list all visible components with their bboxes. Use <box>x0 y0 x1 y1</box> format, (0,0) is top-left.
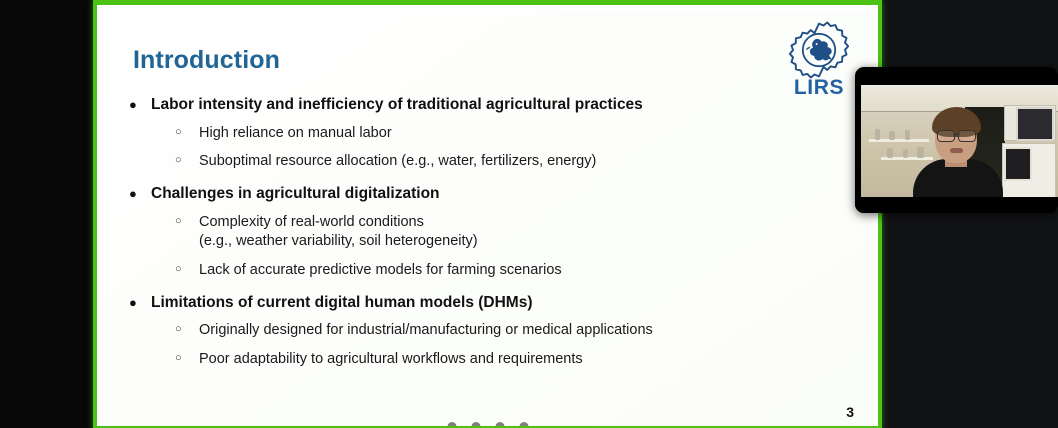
slide-page-number: 3 <box>846 404 854 420</box>
slide-progress-dots <box>447 422 528 426</box>
sub-bullet-marker-icon: ○ <box>175 152 199 170</box>
shelf-trinket <box>903 149 908 158</box>
sub-bullet-item: ○ Lack of accurate predictive models for… <box>175 261 864 281</box>
bullet-item: ● Limitations of current digital human m… <box>129 294 864 313</box>
bullet-item: ● Labor intensity and inefficiency of tr… <box>129 96 864 115</box>
sub-bullet-text: Suboptimal resource allocation (e.g., wa… <box>199 152 596 172</box>
lirs-logo: LIRS <box>776 20 862 100</box>
bullet-text: Challenges in agricultural digitalizatio… <box>151 185 440 204</box>
gear-dragon-icon <box>789 20 849 80</box>
shelf-trinket <box>887 148 893 158</box>
page-title: Introduction <box>133 46 280 75</box>
bullet-item: ● Challenges in agricultural digitalizat… <box>129 185 864 204</box>
shelf-trinket <box>875 129 880 140</box>
sub-bullet-marker-icon: ○ <box>175 261 199 279</box>
bullet-marker-icon: ● <box>129 185 151 204</box>
letterbox-right <box>882 0 1058 428</box>
sub-bullet-text: High reliance on manual labor <box>199 124 392 144</box>
letterbox-left <box>0 0 93 428</box>
bullet-marker-icon: ● <box>129 294 151 313</box>
appliance <box>1004 147 1032 181</box>
shelf-trinket <box>917 147 924 158</box>
progress-dot <box>447 422 456 426</box>
webcam-letterbox-bottom <box>855 204 1058 213</box>
progress-dot <box>519 422 528 426</box>
sub-bullet-text: Poor adaptability to agricultural workfl… <box>199 350 583 370</box>
sub-bullet-text: Complexity of real-world conditions (e.g… <box>199 213 478 252</box>
sub-bullet-item: ○ Originally designed for industrial/man… <box>175 321 864 341</box>
glasses-lens-left <box>937 130 955 142</box>
monitor <box>1016 107 1054 141</box>
shared-slide-frame[interactable]: Introduction LIRS ● Labor intensity and … <box>93 0 882 428</box>
shelf-trinket <box>905 130 910 140</box>
sub-bullet-marker-icon: ○ <box>175 321 199 339</box>
bullet-text: Limitations of current digital human mod… <box>151 294 533 313</box>
progress-dot <box>495 422 504 426</box>
presenter-glasses <box>937 130 976 140</box>
slide-bullet-list: ● Labor intensity and inefficiency of tr… <box>129 96 864 369</box>
sub-bullet-marker-icon: ○ <box>175 350 199 368</box>
sub-bullet-item: ○ High reliance on manual labor <box>175 124 864 144</box>
sub-bullet-marker-icon: ○ <box>175 124 199 142</box>
screen-share-view: Introduction LIRS ● Labor intensity and … <box>0 0 1058 428</box>
sub-bullet-marker-icon: ○ <box>175 213 199 231</box>
presentation-slide: Introduction LIRS ● Labor intensity and … <box>101 10 874 426</box>
bullet-marker-icon: ● <box>129 96 151 115</box>
webcam-video-feed <box>861 85 1058 197</box>
shelf-trinket <box>889 131 895 140</box>
sub-bullet-item: ○ Complexity of real-world conditions (e… <box>175 213 864 252</box>
progress-dot <box>471 422 480 426</box>
sub-bullet-text: Originally designed for industrial/manuf… <box>199 321 653 341</box>
sub-bullet-text: Lack of accurate predictive models for f… <box>199 261 562 281</box>
presenter-webcam-tile[interactable] <box>855 67 1058 213</box>
sub-bullet-item: ○ Poor adaptability to agricultural work… <box>175 350 864 370</box>
presenter-mouth <box>950 148 963 153</box>
glasses-lens-right <box>958 130 976 142</box>
bullet-text: Labor intensity and inefficiency of trad… <box>151 96 643 115</box>
sub-bullet-item: ○ Suboptimal resource allocation (e.g., … <box>175 152 864 172</box>
